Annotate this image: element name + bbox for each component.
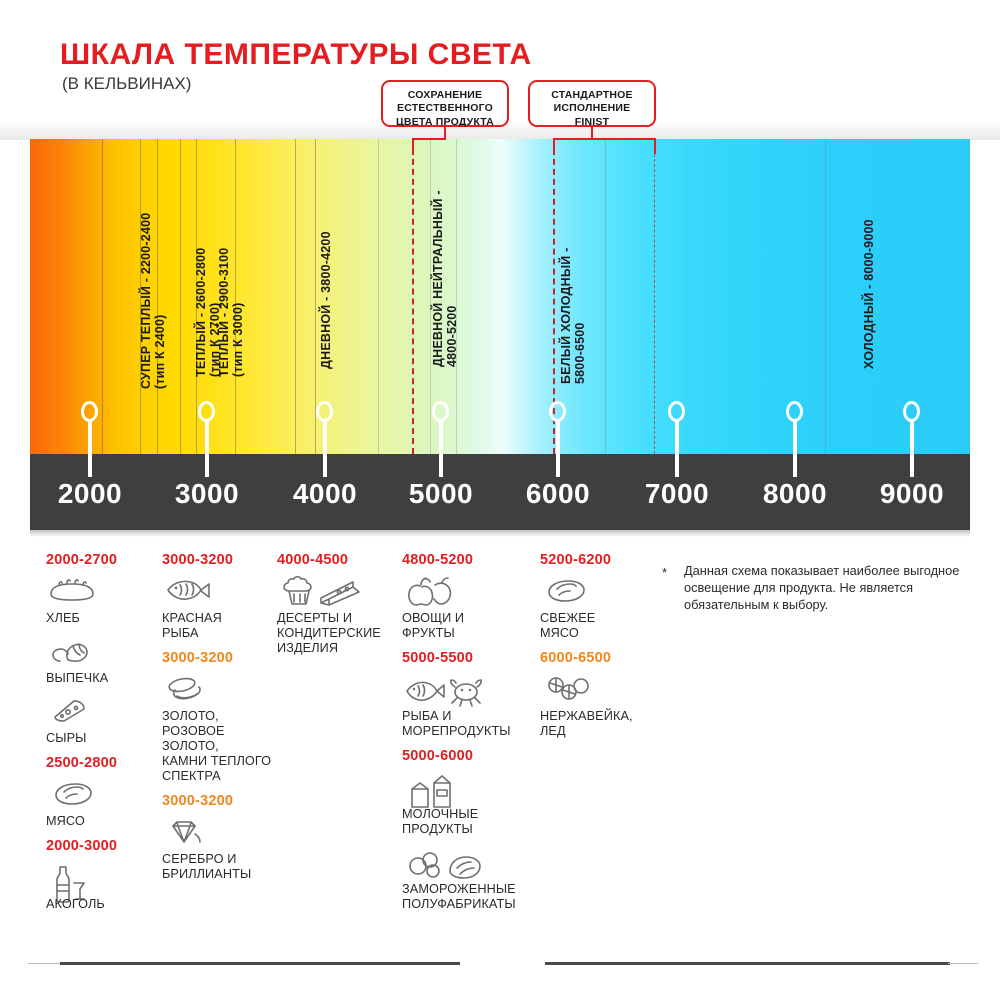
band-label-white-cold-name: БЕЛЫЙ ХОЛОДНЫЙ - xyxy=(559,247,573,384)
scale-tick-8000: 8000 xyxy=(740,478,850,510)
band-label-white-cold: БЕЛЫЙ ХОЛОДНЫЙ - 5800-6500 xyxy=(559,247,588,384)
callout-natural-color: СОХРАНЕНИЕ ЕСТЕСТВЕННОГО ЦВЕТА ПРОДУКТА xyxy=(381,80,509,127)
category-group: 6000-6500НЕРЖАВЕЙКА,ЛЕД xyxy=(540,650,652,739)
category-group: 2500-2800МЯСО xyxy=(46,755,156,829)
category-group: 3000-3200КРАСНАЯРЫБА xyxy=(162,552,274,641)
category-caption: СЕРЕБРО ИБРИЛЛИАНТЫ xyxy=(162,852,274,882)
band-label-daylight-neutral-sub: 4800-5200 xyxy=(445,190,459,367)
infographic-root: ШКАЛА ТЕМПЕРАТУРЫ СВЕТА (В КЕЛЬВИНАХ) СО… xyxy=(0,0,1000,1000)
scale-pin-8000 xyxy=(786,401,803,477)
cupcake-cake-icon xyxy=(277,575,395,609)
band-label-daylight-neutral-name: ДНЕВНОЙ НЕЙТРАЛЬНЫЙ - xyxy=(431,190,445,367)
scale-pin-3000 xyxy=(198,401,215,477)
category-caption: СВЕЖЕЕМЯСО xyxy=(540,611,652,641)
category-item: СВЕЖЕЕМЯСО xyxy=(540,575,652,641)
band-label-daylight: ДНЕВНОЙ - 3800-4200 xyxy=(319,231,333,369)
category-caption: АКОГОЛЬ xyxy=(46,897,156,912)
fish-crab-icon xyxy=(402,673,534,707)
scale-pin-6000 xyxy=(549,401,566,477)
category-column-2: 3000-3200КРАСНАЯРЫБА3000-3200ЗОЛОТО,РОЗО… xyxy=(162,552,274,891)
range-label: 3000-3200 xyxy=(162,552,274,568)
fish-icon xyxy=(162,575,274,609)
category-group: 5000-5500РЫБА ИМОРЕПРОДУКТЫ xyxy=(402,650,534,739)
category-group: 4000-4500ДЕСЕРТЫ ИКОНДИТЕРСКИЕИЗДЕЛИЯ xyxy=(277,552,395,656)
rings-icon xyxy=(162,673,274,707)
scale-tick-7000: 7000 xyxy=(622,478,732,510)
category-item: КРАСНАЯРЫБА xyxy=(162,575,274,641)
band-label-white-cold-sub: 5800-6500 xyxy=(573,247,587,384)
callout-finist-standard: СТАНДАРТНОЕ ИСПОЛНЕНИЕ FINIST xyxy=(528,80,656,127)
callout-finist-bridge-left xyxy=(553,138,593,140)
spectrum-gradient xyxy=(30,139,970,454)
range-label: 5200-6200 xyxy=(540,552,652,568)
spectrum-separator xyxy=(605,139,606,454)
bottom-rule-right xyxy=(545,962,950,965)
page-subtitle: (В КЕЛЬВИНАХ) xyxy=(62,74,191,94)
category-item: ЗОЛОТО,РОЗОВОЕ ЗОЛОТО,КАМНИ ТЕПЛОГОСПЕКТ… xyxy=(162,673,274,784)
category-group: 4800-5200ОВОЩИ ИФРУКТЫ xyxy=(402,552,534,641)
bread-icon xyxy=(46,575,156,609)
category-item: ВЫПЕЧКА xyxy=(46,635,156,686)
scale-tick-6000: 6000 xyxy=(503,478,613,510)
steak-icon xyxy=(46,778,156,812)
bottle-glass-icon xyxy=(46,861,156,895)
range-label: 4000-4500 xyxy=(277,552,395,568)
category-caption: МОЛОЧНЫЕ ПРОДУКТЫ xyxy=(402,807,534,837)
product-categories: 2000-2700ХЛЕБВЫПЕЧКАСЫРЫ2500-2800МЯСО200… xyxy=(0,552,1000,962)
band-label-warm-2700-name: ТЕПЛЫЙ - 2600-2800 xyxy=(194,248,208,377)
band-label-cold-name: ХОЛОДНЫЙ - 8000-9000 xyxy=(862,219,876,369)
category-group: 5000-6000МОЛОЧНЫЕ ПРОДУКТЫЗАМОРОЖЕННЫЕПО… xyxy=(402,748,534,912)
bottom-rule-left xyxy=(60,962,460,965)
category-caption: СЫРЫ xyxy=(46,731,156,746)
croissant-icon xyxy=(46,635,156,669)
band-label-daylight-neutral: ДНЕВНОЙ НЕЙТРАЛЬНЫЙ - 4800-5200 xyxy=(431,190,460,367)
scale-pin-2000 xyxy=(81,401,98,477)
scale-tick-5000: 5000 xyxy=(386,478,496,510)
callout-finist-line3: FINIST xyxy=(575,116,609,128)
category-caption: ОВОЩИ ИФРУКТЫ xyxy=(402,611,534,641)
band-label-warm-3000: ТЕПЛЫЙ - 2900-3100 (тип К 3000) xyxy=(217,248,246,377)
scale-tick-3000: 3000 xyxy=(152,478,262,510)
range-label: 4800-5200 xyxy=(402,552,534,568)
category-caption: НЕРЖАВЕЙКА,ЛЕД xyxy=(540,709,652,739)
scale-tick-4000: 4000 xyxy=(270,478,380,510)
scale-pin-5000 xyxy=(432,401,449,477)
category-column-1: 2000-2700ХЛЕБВЫПЕЧКАСЫРЫ2500-2800МЯСО200… xyxy=(46,552,156,921)
band-label-daylight-name: ДНЕВНОЙ - 3800-4200 xyxy=(319,231,333,369)
category-item: НЕРЖАВЕЙКА,ЛЕД xyxy=(540,673,652,739)
callout-natural-line2: ЕСТЕСТВЕННОГО xyxy=(397,102,493,114)
range-label: 2000-3000 xyxy=(46,838,156,854)
category-item: РЫБА ИМОРЕПРОДУКТЫ xyxy=(402,673,534,739)
color-temperature-spectrum: СУПЕР ТЕПЛЫЙ - 2200-2400 (тип К 2400) ТЕ… xyxy=(30,139,970,454)
category-item: ЗАМОРОЖЕННЫЕПОЛУФАБРИКАТЫ xyxy=(402,846,534,912)
category-caption: ЗАМОРОЖЕННЫЕПОЛУФАБРИКАТЫ xyxy=(402,882,534,912)
category-caption: РЫБА ИМОРЕПРОДУКТЫ xyxy=(402,709,534,739)
callout-finist-drop-left xyxy=(553,138,555,154)
category-caption: ЗОЛОТО,РОЗОВОЕ ЗОЛОТО,КАМНИ ТЕПЛОГОСПЕКТ… xyxy=(162,709,274,784)
callout-natural-bridge xyxy=(413,138,445,140)
category-caption: ХЛЕБ xyxy=(46,611,156,626)
page-title: ШКАЛА ТЕМПЕРАТУРЫ СВЕТА xyxy=(60,38,532,72)
category-item: ОВОЩИ ИФРУКТЫ xyxy=(402,575,534,641)
bottom-rule-right-thin xyxy=(948,963,978,964)
category-column-3: 4000-4500ДЕСЕРТЫ ИКОНДИТЕРСКИЕИЗДЕЛИЯ xyxy=(277,552,395,665)
band-label-cold: ХОЛОДНЫЙ - 8000-9000 xyxy=(862,219,876,369)
band-label-super-warm: СУПЕР ТЕПЛЫЙ - 2200-2400 (тип К 2400) xyxy=(139,213,168,389)
ice-cubes-icon xyxy=(540,673,652,707)
category-caption: КРАСНАЯРЫБА xyxy=(162,611,274,641)
scale-tick-2000: 2000 xyxy=(35,478,145,510)
guide-line-4800 xyxy=(412,139,414,454)
category-group: 3000-3200СЕРЕБРО ИБРИЛЛИАНТЫ xyxy=(162,793,274,882)
band-label-super-warm-sub: (тип К 2400) xyxy=(153,213,167,389)
guide-line-6500 xyxy=(654,139,655,454)
callout-finist-line1: СТАНДАРТНОЕ xyxy=(551,89,633,101)
category-caption: МЯСО xyxy=(46,814,156,829)
fresh-meat-icon xyxy=(540,575,652,609)
scale-pin-7000 xyxy=(668,401,685,477)
category-item: МЯСО xyxy=(46,778,156,829)
bottom-rule-left-thin xyxy=(28,963,62,964)
callout-natural-line1: СОХРАНЕНИЕ xyxy=(408,89,482,101)
milk-carton-icon xyxy=(402,771,534,805)
scale-tick-9000: 9000 xyxy=(857,478,967,510)
callout-finist-drop-right xyxy=(654,138,656,154)
spectrum-separator xyxy=(295,139,296,454)
category-item: ДЕСЕРТЫ ИКОНДИТЕРСКИЕИЗДЕЛИЯ xyxy=(277,575,395,656)
cheese-icon xyxy=(46,695,156,729)
category-column-5: 5200-6200СВЕЖЕЕМЯСО6000-6500НЕРЖАВЕЙКА,Л… xyxy=(540,552,652,748)
range-label: 5000-5500 xyxy=(402,650,534,666)
band-label-warm-3000-name: ТЕПЛЫЙ - 2900-3100 xyxy=(217,248,231,377)
spectrum-separator xyxy=(378,139,379,454)
range-label: 5000-6000 xyxy=(402,748,534,764)
scale-pin-4000 xyxy=(316,401,333,477)
category-caption: ДЕСЕРТЫ ИКОНДИТЕРСКИЕИЗДЕЛИЯ xyxy=(277,611,395,656)
scale-band-shadow xyxy=(30,530,970,537)
fruit-vegetable-icon xyxy=(402,575,534,609)
callout-finist-line2: ИСПОЛНЕНИЕ xyxy=(554,102,631,114)
range-label: 2500-2800 xyxy=(46,755,156,771)
spectrum-separator xyxy=(180,139,181,454)
spectrum-separator xyxy=(825,139,826,454)
range-label: 3000-3200 xyxy=(162,793,274,809)
category-item: АКОГОЛЬ xyxy=(46,861,156,912)
range-label: 2000-2700 xyxy=(46,552,156,568)
category-item: МОЛОЧНЫЕ ПРОДУКТЫ xyxy=(402,771,534,837)
category-item: СЫРЫ xyxy=(46,695,156,746)
callout-finist-bridge xyxy=(591,138,656,140)
band-label-super-warm-name: СУПЕР ТЕПЛЫЙ - 2200-2400 xyxy=(139,213,153,389)
category-item: ХЛЕБ xyxy=(46,575,156,626)
category-caption: ВЫПЕЧКА xyxy=(46,671,156,686)
range-label: 6000-6500 xyxy=(540,650,652,666)
category-group: 2000-3000АКОГОЛЬ xyxy=(46,838,156,912)
range-label: 3000-3200 xyxy=(162,650,274,666)
frozen-food-icon xyxy=(402,846,534,880)
category-column-4: 4800-5200ОВОЩИ ИФРУКТЫ5000-5500РЫБА ИМОР… xyxy=(402,552,534,921)
diamond-icon xyxy=(162,816,274,850)
category-group: 3000-3200ЗОЛОТО,РОЗОВОЕ ЗОЛОТО,КАМНИ ТЕП… xyxy=(162,650,274,784)
spectrum-separator xyxy=(102,139,103,454)
category-group: 5200-6200СВЕЖЕЕМЯСО xyxy=(540,552,652,641)
callout-natural-drop xyxy=(412,138,414,154)
band-label-warm-3000-sub: (тип К 3000) xyxy=(231,248,245,377)
callout-natural-line3: ЦВЕТА ПРОДУКТА xyxy=(396,116,494,128)
category-group: 2000-2700ХЛЕБВЫПЕЧКАСЫРЫ xyxy=(46,552,156,746)
category-item: СЕРЕБРО ИБРИЛЛИАНТЫ xyxy=(162,816,274,882)
scale-pin-9000 xyxy=(903,401,920,477)
